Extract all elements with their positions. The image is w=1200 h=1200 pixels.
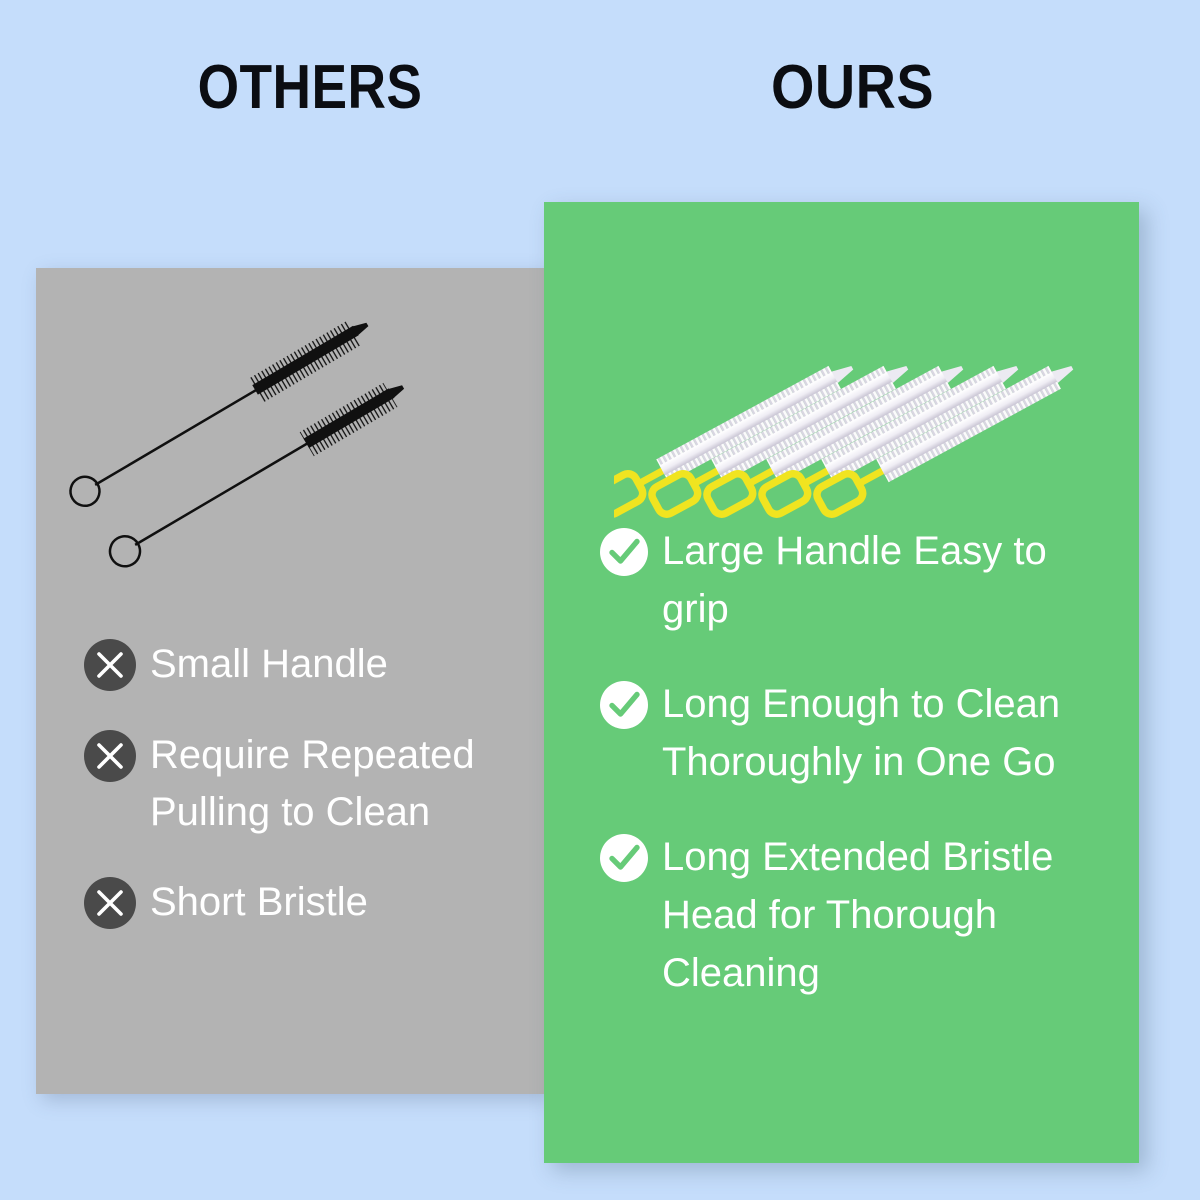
ours-panel: Large Handle Easy to grip Long Enough to… — [544, 202, 1139, 1163]
feature-label: Short Bristle — [150, 874, 368, 931]
others-panel: Small Handle Require Repeated Pulling to… — [36, 268, 545, 1094]
cross-icon — [84, 639, 136, 691]
cross-icon — [84, 877, 136, 929]
feature-item: Long Extended Bristle Head for Thorough … — [600, 828, 1113, 1003]
feature-item: Large Handle Easy to grip — [600, 522, 1113, 639]
check-icon — [600, 834, 648, 882]
feature-item: Short Bristle — [84, 874, 525, 931]
others-feature-list: Small Handle Require Repeated Pulling to… — [36, 636, 545, 965]
feature-item: Small Handle — [84, 636, 525, 693]
check-icon — [600, 681, 648, 729]
feature-label: Require Repeated Pulling to Clean — [150, 727, 525, 841]
feature-item: Require Repeated Pulling to Clean — [84, 727, 525, 841]
ours-brush-illustration — [614, 222, 1114, 522]
heading-ours: OURS — [576, 52, 1130, 123]
ours-feature-list: Large Handle Easy to grip Long Enough to… — [544, 522, 1139, 1039]
heading-others: OTHERS — [43, 52, 576, 123]
feature-label: Long Extended Bristle Head for Thorough … — [662, 828, 1113, 1003]
feature-label: Long Enough to Clean Thoroughly in One G… — [662, 675, 1113, 792]
cross-icon — [84, 730, 136, 782]
feature-label: Small Handle — [150, 636, 388, 693]
check-icon — [600, 528, 648, 576]
feature-label: Large Handle Easy to grip — [662, 522, 1113, 639]
others-brush-illustration — [56, 278, 526, 608]
feature-item: Long Enough to Clean Thoroughly in One G… — [600, 675, 1113, 792]
